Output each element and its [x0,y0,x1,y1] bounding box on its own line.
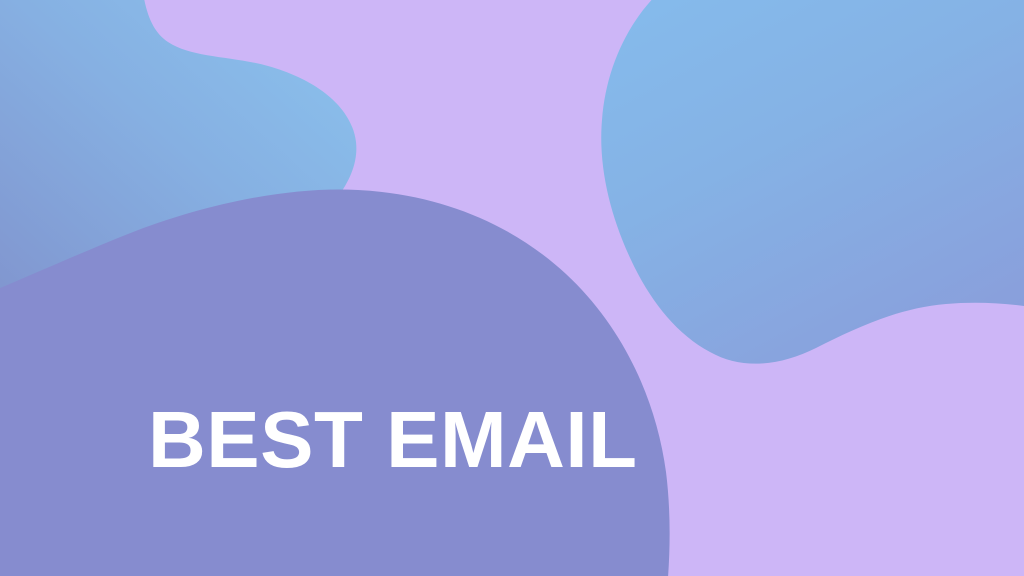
page-title: BEST EMAIL FINDER TOOLS [148,182,788,576]
headline-line-1: BEST EMAIL [148,388,788,491]
banner-canvas: BEST EMAIL FINDER TOOLS [0,0,1024,576]
